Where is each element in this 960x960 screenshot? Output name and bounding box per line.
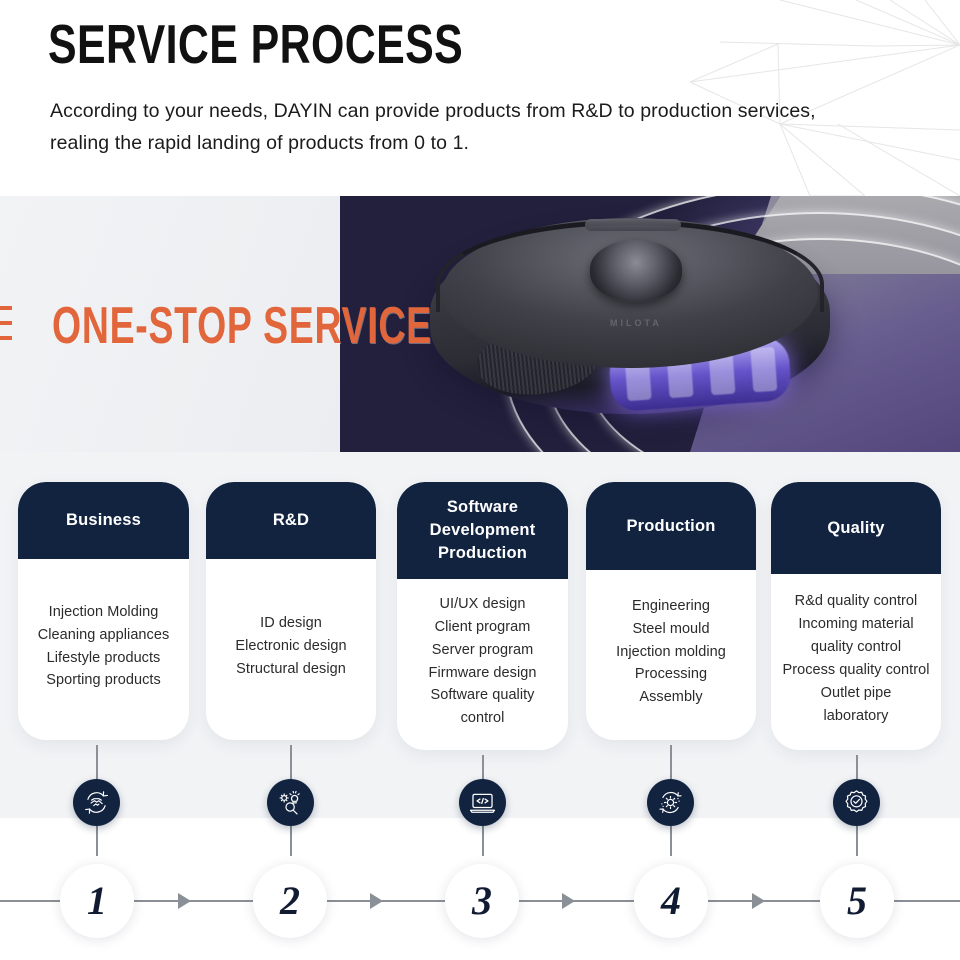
- list-item: laboratory: [824, 705, 889, 728]
- page-header: SERVICE PROCESS According to your needs,…: [0, 0, 960, 196]
- card-title: Software Development Production: [397, 482, 568, 579]
- connector-stem: [482, 755, 484, 779]
- step-number-label: 4: [661, 881, 681, 921]
- list-item: Server program: [432, 639, 533, 662]
- arrow-icon: [752, 893, 765, 909]
- connector-stem: [96, 745, 98, 779]
- robot-vacuum: MILOTA: [430, 214, 830, 429]
- list-item: R&d quality control: [795, 590, 918, 613]
- robot-sensor-slot: [585, 219, 681, 231]
- card-items: Engineering Steel mould Injection moldin…: [586, 570, 756, 740]
- process-card-production[interactable]: Production Engineering Steel mould Injec…: [586, 482, 756, 740]
- list-item: Software quality: [431, 684, 535, 707]
- hero-title: ONE-STOP SERVICE: [52, 296, 432, 356]
- list-item: ID design: [260, 612, 322, 635]
- step-number-label: 5: [847, 881, 867, 921]
- list-item: Cleaning appliances: [38, 624, 170, 647]
- list-item: Incoming material: [798, 613, 913, 636]
- arrow-icon: [562, 893, 575, 909]
- list-item: UI/UX design: [439, 593, 525, 616]
- badge-check-icon: [842, 788, 871, 817]
- arrow-icon: [370, 893, 383, 909]
- list-item: Processing: [635, 663, 707, 686]
- list-item: Steel mould: [632, 618, 709, 641]
- hero-tick-marks: [0, 306, 18, 366]
- step-number-2[interactable]: 2: [253, 864, 327, 938]
- process-card-quality[interactable]: Quality R&d quality control Incoming mat…: [771, 482, 941, 750]
- step-icon-production[interactable]: [647, 779, 694, 826]
- card-title: R&D: [206, 482, 376, 559]
- robot-lidar-turret: [590, 240, 682, 302]
- list-item: Injection molding: [616, 641, 726, 664]
- handshake-cycle-icon: [82, 788, 111, 817]
- laptop-code-icon: [468, 788, 497, 817]
- gear-cycle-icon: [656, 788, 685, 817]
- step-number-3[interactable]: 3: [445, 864, 519, 938]
- step-number-4[interactable]: 4: [634, 864, 708, 938]
- process-cards: Business Injection Molding Cleaning appl…: [0, 452, 960, 752]
- connector-stem: [856, 755, 858, 779]
- process-card-rd[interactable]: R&D ID design Electronic design Structur…: [206, 482, 376, 740]
- list-item: Client program: [435, 616, 531, 639]
- list-item: Structural design: [236, 658, 346, 681]
- step-number-1[interactable]: 1: [60, 864, 134, 938]
- list-item: Sporting products: [46, 669, 161, 692]
- robot-brand-label: MILOTA: [610, 318, 662, 328]
- list-item: Outlet pipe: [821, 682, 892, 705]
- connector-stem: [670, 745, 672, 779]
- step-icon-software[interactable]: [459, 779, 506, 826]
- list-item: Assembly: [639, 686, 702, 709]
- list-item: quality control: [811, 636, 901, 659]
- list-item: Electronic design: [235, 635, 346, 658]
- hero-banner: MILOTA ONE-STOP SERVICE: [0, 196, 960, 452]
- step-icon-quality[interactable]: [833, 779, 880, 826]
- list-item: Lifestyle products: [47, 647, 161, 670]
- connector-stem: [290, 745, 292, 779]
- gear-magnifier-bulb-icon: [276, 788, 305, 817]
- card-items: ID design Electronic design Structural d…: [206, 559, 376, 740]
- card-items: Injection Molding Cleaning appliances Li…: [18, 559, 189, 740]
- step-number-label: 2: [280, 881, 300, 921]
- page-title: SERVICE PROCESS: [48, 16, 463, 74]
- connector-stem-lower: [290, 826, 292, 856]
- card-items: R&d quality control Incoming material qu…: [771, 574, 941, 750]
- list-item: Process quality control: [782, 659, 929, 682]
- list-item: Firmware design: [429, 662, 537, 685]
- connector-stem-lower: [856, 826, 858, 856]
- card-title: Production: [586, 482, 756, 570]
- list-item: Engineering: [632, 595, 710, 618]
- arrow-icon: [178, 893, 191, 909]
- process-card-software-development-production[interactable]: Software Development Production UI/UX de…: [397, 482, 568, 750]
- connector-stem-lower: [96, 826, 98, 856]
- card-title: Business: [18, 482, 189, 559]
- connector-stem-lower: [670, 826, 672, 856]
- step-number-label: 3: [472, 881, 492, 921]
- step-number-label: 1: [87, 881, 107, 921]
- list-item: control: [461, 707, 505, 730]
- step-number-5[interactable]: 5: [820, 864, 894, 938]
- list-item: Injection Molding: [49, 601, 159, 624]
- page-subtitle: According to your needs, DAYIN can provi…: [50, 95, 850, 159]
- connector-stem-lower: [482, 826, 484, 856]
- card-items: UI/UX design Client program Server progr…: [397, 579, 568, 750]
- process-card-business[interactable]: Business Injection Molding Cleaning appl…: [18, 482, 189, 740]
- robot-vacuum-photo-icon: MILOTA: [340, 196, 960, 452]
- process-section: Business Injection Molding Cleaning appl…: [0, 452, 960, 960]
- step-icon-business[interactable]: [73, 779, 120, 826]
- step-icon-rd[interactable]: [267, 779, 314, 826]
- card-title: Quality: [771, 482, 941, 574]
